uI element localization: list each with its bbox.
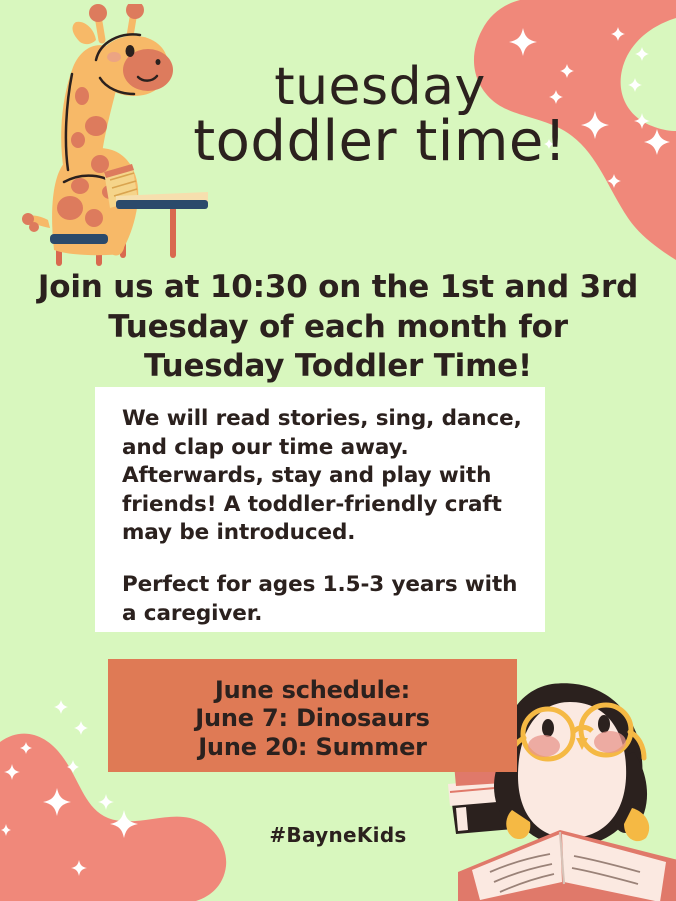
- sparkle-icon: [74, 721, 88, 735]
- sparkle-icon: [607, 174, 621, 188]
- giraffe-spot: [71, 132, 85, 148]
- giraffe-spot: [85, 116, 107, 136]
- hashtag: #BayneKids: [0, 823, 676, 847]
- penguin-beak: [576, 738, 588, 750]
- glasses-temple-right: [630, 732, 644, 758]
- sparkle-icon: [611, 27, 625, 41]
- penguin-wing-right: [614, 752, 647, 833]
- giraffe-ossicone: [130, 12, 134, 36]
- giraffe-head-outline: [96, 34, 140, 60]
- sparkle-icon: [98, 794, 114, 810]
- sparkle-icon: [54, 700, 68, 714]
- giraffe-neck-outline: [66, 74, 72, 170]
- open-book-text-line: [500, 874, 554, 892]
- giraffe-book-page-line: [112, 181, 136, 188]
- giraffe-body: [52, 148, 138, 255]
- penguin-cheek-left: [528, 735, 560, 757]
- description-line: may be introduced.: [122, 520, 355, 545]
- penguin-eye-left: [542, 719, 554, 737]
- description-line: Afterwards, stay and play with: [122, 463, 491, 488]
- title-line-2: toddler time!: [170, 115, 590, 170]
- giraffe-ear: [73, 22, 96, 44]
- giraffe-spot: [91, 155, 109, 173]
- open-book-text-line: [572, 868, 638, 884]
- intro-line-3: Tuesday Toddler Time!: [18, 347, 658, 387]
- chair-leg: [96, 242, 102, 266]
- sparkle-icon: [71, 860, 87, 876]
- schedule-entry: June 20: Summer: [108, 733, 517, 761]
- schedule-entry: June 7: Dinosaurs: [108, 704, 517, 732]
- sparkle-icon: [67, 760, 79, 773]
- giraffe-tail-tuft: [22, 213, 34, 225]
- title-line-1: tuesday: [170, 62, 590, 113]
- giraffe-ossicone-tip: [89, 4, 107, 22]
- sparkle-icon: [20, 742, 32, 754]
- sparkle-icon: [509, 28, 537, 56]
- schedule-card: June schedule: June 7: Dinosaurs June 20…: [108, 659, 517, 772]
- giraffe-tail: [28, 216, 50, 228]
- sparkle-icon: [43, 788, 71, 816]
- penguin-eye-right: [598, 715, 610, 733]
- chair-seat: [50, 234, 108, 244]
- schedule-text: June schedule: June 7: Dinosaurs June 20…: [108, 676, 517, 761]
- sparkle-icon: [635, 47, 649, 61]
- poster-canvas: tuesday toddler time! Join us at 10:30 o…: [0, 0, 676, 901]
- schedule-heading: June schedule:: [108, 676, 517, 704]
- intro-line-2: Tuesday of each month for: [18, 308, 658, 348]
- open-book-text-line: [574, 856, 640, 872]
- book-stack-middle: [448, 778, 520, 806]
- poster-title: tuesday toddler time!: [170, 62, 590, 170]
- description-paragraph-2: Perfect for ages 1.5-3 years with a care…: [122, 571, 532, 628]
- description-line: We will read stories, sing, dance,: [122, 406, 522, 431]
- description-text: We will read stories, sing, dance, and c…: [122, 405, 532, 628]
- giraffe-ossicone-tip: [126, 4, 144, 19]
- sparkle-icon: [4, 764, 20, 780]
- giraffe-back-line: [64, 176, 118, 186]
- giraffe-leg: [108, 204, 124, 255]
- glasses-lens-left: [523, 709, 573, 759]
- penguin-belly: [518, 702, 626, 838]
- intro-line-1: Join us at 10:30 on the 1st and 3rd: [18, 268, 658, 308]
- description-line: Perfect for ages 1.5-3 years with: [122, 572, 517, 597]
- giraffe-spot: [85, 209, 103, 227]
- giraffe-jaw-line: [100, 78, 134, 94]
- desk-top: [116, 192, 208, 208]
- book-stack-middle-line: [450, 786, 518, 792]
- giraffe-nostril: [156, 59, 161, 65]
- giraffe-spot: [57, 196, 83, 220]
- giraffe-tail-tuft: [29, 222, 39, 232]
- giraffe-book-cover: [104, 164, 134, 178]
- giraffe-eye: [126, 45, 135, 57]
- giraffe-spot: [75, 87, 89, 105]
- giraffe-book-page-line: [110, 173, 134, 180]
- chair-leg: [56, 242, 62, 266]
- giraffe-head: [94, 36, 168, 96]
- open-book-text-line: [490, 854, 550, 872]
- open-book-text-line: [494, 864, 552, 882]
- sparkle-icon: [628, 78, 642, 92]
- description-line: and clap our time away.: [122, 435, 409, 460]
- giraffe-ossicone: [98, 16, 102, 40]
- giraffe-muzzle: [123, 49, 173, 91]
- desk-leg: [170, 204, 176, 258]
- giraffe-book: [104, 164, 138, 208]
- description-line: friends! A toddler-friendly craft: [122, 492, 502, 517]
- description-line: a caregiver.: [122, 601, 262, 626]
- giraffe-cheek: [107, 52, 121, 62]
- description-card: We will read stories, sing, dance, and c…: [95, 387, 545, 632]
- glasses-bridge: [573, 727, 592, 732]
- penguin-body: [500, 683, 643, 846]
- glasses-lens-right: [581, 705, 631, 755]
- giraffe-mouth: [138, 76, 157, 81]
- giraffe-spot: [71, 178, 89, 194]
- desk-edge: [116, 200, 208, 209]
- top-right-green-lobe: [621, 18, 676, 131]
- intro-text: Join us at 10:30 on the 1st and 3rd Tues…: [18, 268, 658, 387]
- sparkle-icon: [634, 113, 650, 129]
- giraffe-spot: [102, 185, 118, 199]
- description-paragraph-1: We will read stories, sing, dance, and c…: [122, 405, 532, 548]
- giraffe-book-page-line: [114, 189, 137, 196]
- giraffe-neck: [61, 45, 119, 178]
- sparkle-icon: [644, 129, 670, 155]
- penguin-cheek-right: [594, 731, 626, 753]
- desk-leg: [120, 204, 126, 258]
